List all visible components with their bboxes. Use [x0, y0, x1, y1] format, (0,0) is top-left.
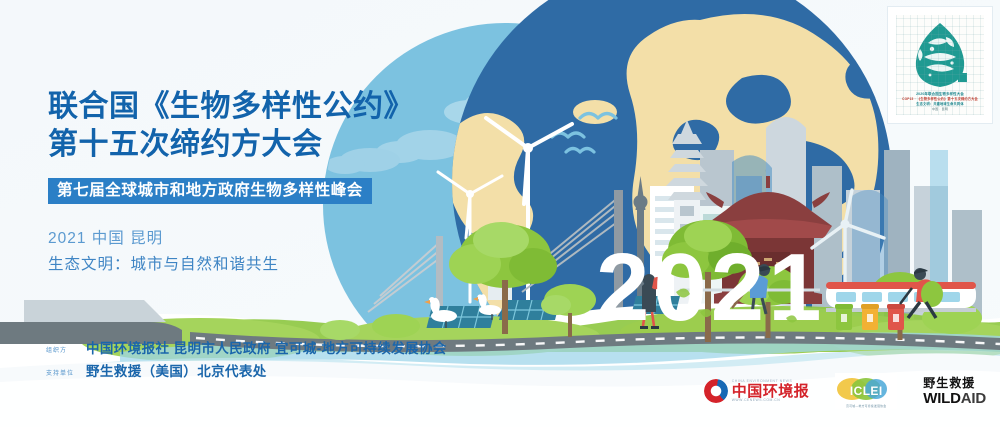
- cen-logo-url-text: WWW.CENEWS.COM.CN: [732, 399, 810, 402]
- iclei-logo: ICLEI 宜可城—地方可持续发展协会: [835, 373, 897, 409]
- wildaid-logo: 野生救援 WILDAID: [923, 377, 986, 406]
- headline-block: 联合国《生物多样性公约》 第十五次缔约方大会 第七届全球城市和地方政府生物多样性…: [48, 88, 448, 277]
- subtitle-line-2: 生态文明：城市与自然和谐共生: [48, 252, 448, 278]
- summit-badge: 第七届全球城市和地方政府生物多样性峰会: [48, 178, 372, 205]
- year-art-text: 2021: [596, 234, 826, 341]
- credit-value-supporter: 野生救援（美国）北京代表处: [86, 360, 267, 380]
- main-title-line-1: 联合国《生物多样性公约》: [48, 88, 448, 126]
- poster-caption-line-4: 中国 · 昆明: [896, 107, 984, 112]
- sponsor-logos: CHINA ENVIRONMENT NEWS 中国环境报 WWW.CENEWS.…: [704, 373, 986, 409]
- cen-swirl-icon: [704, 379, 728, 403]
- credit-value-organizers: 中国环境报社 昆明市人民政府 宜可城-地方可持续发展协会: [86, 337, 447, 357]
- cop15-banner: 2021 联合国《生物多样性公约》 第十五次缔约方大会 第七届全球城市和地方政府…: [0, 0, 1000, 427]
- credit-tag-supporter: 支持单位: [46, 371, 80, 377]
- china-environment-news-logo: CHINA ENVIRONMENT NEWS 中国环境报 WWW.CENEWS.…: [704, 379, 810, 403]
- main-title-line-2: 第十五次缔约方大会: [48, 126, 448, 164]
- iclei-wordmark: ICLEI: [850, 384, 883, 398]
- poster-caption-line-2: COP15 · 《生物多样性公约》第十五次缔约方大会: [896, 97, 984, 102]
- subtitle-block: 2021 中国 昆明 生态文明：城市与自然和谐共生: [48, 226, 448, 277]
- credit-row-supporter: 支持单位 野生救援（美国）北京代表处: [46, 360, 447, 380]
- cen-logo-main-text: 中国环境报: [732, 384, 810, 399]
- subtitle-line-1: 2021 中国 昆明: [48, 226, 448, 252]
- iclei-subtitle: 宜可城—地方可持续发展协会: [835, 404, 897, 408]
- credit-row-organizers: 组织方 中国环境报社 昆明市人民政府 宜可城-地方可持续发展协会: [46, 337, 447, 357]
- wildaid-chinese-name: 野生救援: [923, 377, 975, 389]
- poster-caption: 2020年联合国生物多样性大会 COP15 · 《生物多样性公约》第十五次缔约方…: [896, 92, 984, 111]
- recycling-bins: [835, 304, 905, 330]
- wildaid-english-name: WILDAID: [923, 391, 986, 406]
- credits-block: 组织方 中国环境报社 昆明市人民政府 宜可城-地方可持续发展协会 支持单位 野生…: [46, 337, 447, 383]
- cop15-emblem-poster: 2020年联合国生物多样性大会 COP15 · 《生物多样性公约》第十五次缔约方…: [888, 7, 992, 123]
- credit-tag-organizers: 组织方: [46, 348, 80, 354]
